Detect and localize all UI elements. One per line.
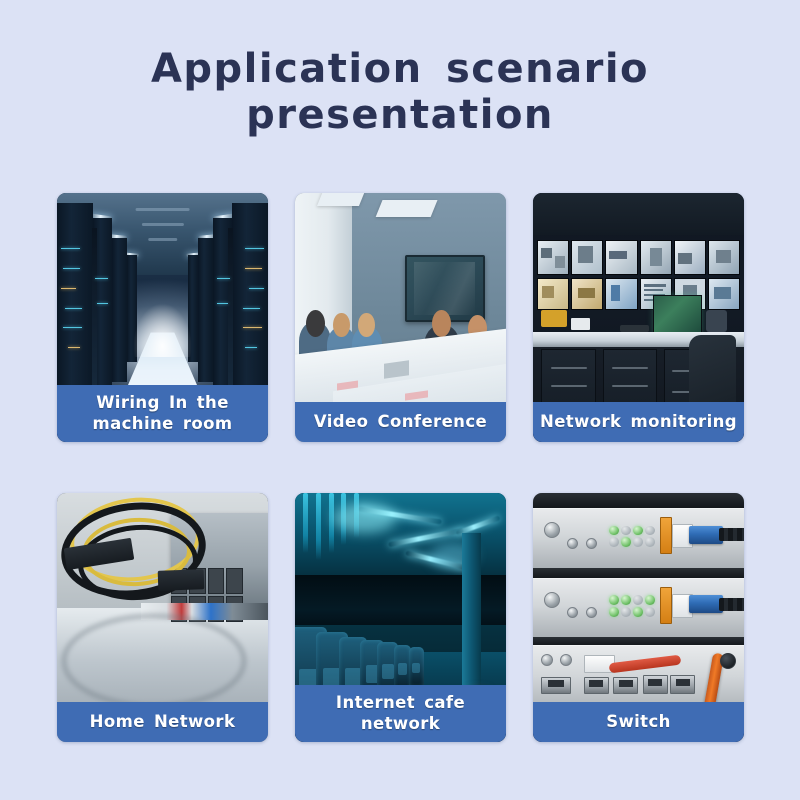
scenario-card-grid: Wiring In the machine room — [57, 193, 744, 742]
status-led — [633, 537, 643, 547]
scenario-card-wiring-machine-room[interactable]: Wiring In the machine room — [57, 193, 268, 442]
rack-led-l2 — [63, 268, 80, 269]
page-title-line-2: presentation — [0, 92, 800, 138]
rack-gap-middle-1 — [533, 568, 744, 578]
ceiling-slat — [316, 493, 321, 560]
blue-cable-connector — [689, 595, 723, 613]
desk-object-device — [571, 318, 590, 330]
server-rack-left-3 — [112, 238, 127, 382]
caption-line-2: machine room — [61, 413, 264, 434]
panel-connector-dark — [720, 653, 736, 669]
rack-led-r4 — [243, 308, 260, 309]
ceiling-vent-2 — [141, 223, 183, 226]
card-caption-video-conference: Video Conference — [295, 402, 506, 442]
panel-knob-small — [586, 538, 597, 549]
caption-line-1: Switch — [537, 711, 740, 732]
status-led — [609, 537, 619, 547]
rack-pillar-left — [92, 228, 97, 392]
attendee-2-head — [333, 313, 350, 338]
panel-knob-small — [567, 607, 578, 618]
router-port — [226, 568, 242, 594]
status-led — [645, 537, 655, 547]
rack-led-l7 — [95, 278, 108, 279]
cabinet-handle — [612, 367, 648, 369]
rack-led-r5 — [243, 327, 262, 328]
switch-panel-1 — [533, 508, 744, 570]
caption-line-1: Internet cafe — [299, 692, 502, 713]
rj45-port — [643, 675, 668, 693]
scenario-card-home-network[interactable]: Home Network — [57, 493, 268, 742]
rack-led-l8 — [97, 303, 108, 304]
ceiling-light-panel-1 — [376, 200, 438, 217]
status-led — [609, 595, 619, 605]
desk-keyboard — [620, 325, 650, 332]
card-caption-network-monitoring: Network monitoring — [533, 402, 744, 442]
card-caption-home-network: Home Network — [57, 702, 268, 742]
cctv-monitor — [571, 278, 603, 310]
gaming-chair — [409, 647, 424, 687]
status-led — [621, 595, 631, 605]
rj45-port — [670, 675, 695, 693]
rack-led-r8 — [217, 303, 228, 304]
page-title-line-1: Application scenario — [0, 46, 800, 92]
caption-line-2: network — [299, 713, 502, 734]
cctv-monitor — [571, 240, 603, 275]
status-led — [621, 537, 631, 547]
status-led — [609, 526, 619, 536]
status-led — [645, 526, 655, 536]
orange-latch — [660, 587, 672, 624]
scenario-card-internet-cafe[interactable]: Internet cafe network — [295, 493, 506, 742]
neon-glow-1 — [333, 503, 396, 533]
panel-knob-small — [541, 654, 553, 666]
rack-led-r3 — [249, 288, 264, 289]
aisle-vanishing-glow — [133, 303, 192, 358]
panel-knob — [544, 522, 560, 538]
rack-led-r1 — [245, 248, 264, 249]
rj45-port — [541, 677, 570, 694]
ceiling-light-panel-2 — [317, 193, 365, 205]
switch-panel-2 — [533, 578, 744, 640]
status-led — [633, 595, 643, 605]
rack-gap-middle-2 — [533, 637, 744, 644]
rj45-port — [584, 677, 609, 694]
ceiling-slat — [329, 493, 334, 553]
status-led — [633, 526, 643, 536]
cable-plug-2 — [158, 569, 205, 591]
cabinet-handle — [551, 385, 587, 387]
desk-object-box — [706, 310, 727, 332]
scenario-card-switch[interactable]: Switch — [533, 493, 744, 742]
status-led — [645, 607, 655, 617]
router-port — [208, 568, 224, 594]
panel-knob-small — [586, 607, 597, 618]
panel-knob — [544, 592, 560, 608]
rack-led-l6 — [68, 347, 81, 348]
ceiling-vent-1 — [135, 208, 190, 211]
desk-object-telephone — [541, 310, 566, 327]
rack-led-r2 — [245, 268, 262, 269]
black-cable-bundle — [719, 528, 744, 541]
black-cable-bundle — [719, 598, 744, 611]
rack-led-l4 — [65, 308, 82, 309]
status-led — [621, 607, 631, 617]
cctv-monitor — [605, 240, 637, 275]
caption-line-1: Video Conference — [299, 411, 502, 432]
rack-led-r7 — [217, 278, 230, 279]
ceiling-vent-3 — [148, 238, 178, 241]
operator-desk-monitor — [653, 295, 701, 334]
blue-cable-connector — [689, 526, 723, 544]
caption-line-1: Home Network — [61, 711, 264, 732]
scenario-card-network-monitoring[interactable]: Network monitoring — [533, 193, 744, 442]
cctv-monitor-row-bottom — [537, 278, 740, 310]
rack-led-r6 — [245, 347, 258, 348]
panel-led-grid — [609, 595, 655, 617]
cctv-monitor — [708, 240, 740, 275]
control-room-ceiling — [533, 193, 744, 235]
cable-reflection — [61, 613, 247, 710]
cctv-monitor — [674, 240, 706, 275]
server-rack-right-3 — [198, 238, 213, 382]
scenario-card-video-conference[interactable]: Video Conference — [295, 193, 506, 442]
panel-knob-small — [567, 538, 578, 549]
status-led — [609, 607, 619, 617]
status-led — [645, 595, 655, 605]
panel-led-grid — [609, 526, 655, 548]
rack-led-l1 — [61, 248, 80, 249]
red-fiber-cable — [609, 655, 681, 674]
card-caption-internet-cafe: Internet cafe network — [295, 685, 506, 742]
cctv-monitor-row-top — [537, 240, 740, 275]
card-caption-wiring-machine-room: Wiring In the machine room — [57, 385, 268, 442]
rj45-port — [613, 677, 638, 694]
cctv-monitor — [708, 278, 740, 310]
panel-knob-small — [560, 654, 572, 666]
rack-led-l3 — [61, 288, 76, 289]
cabinet-handle — [612, 385, 648, 387]
cctv-monitor — [640, 240, 672, 275]
rack-gap-top — [533, 493, 744, 508]
cctv-monitor — [537, 240, 569, 275]
caption-line-1: Network monitoring — [537, 411, 740, 432]
cctv-monitor — [537, 278, 569, 310]
card-caption-switch: Switch — [533, 702, 744, 742]
status-led — [633, 607, 643, 617]
orange-latch — [660, 517, 672, 554]
caption-line-1: Wiring In the — [61, 392, 264, 413]
page-title: Application scenario presentation — [0, 46, 800, 138]
cctv-monitor — [605, 278, 637, 310]
ceiling-slat — [303, 493, 308, 553]
cabinet-handle — [551, 367, 587, 369]
status-led — [621, 526, 631, 536]
rack-pillar-right — [228, 228, 233, 392]
rack-led-l5 — [63, 327, 82, 328]
attendee-1-head — [306, 310, 325, 337]
